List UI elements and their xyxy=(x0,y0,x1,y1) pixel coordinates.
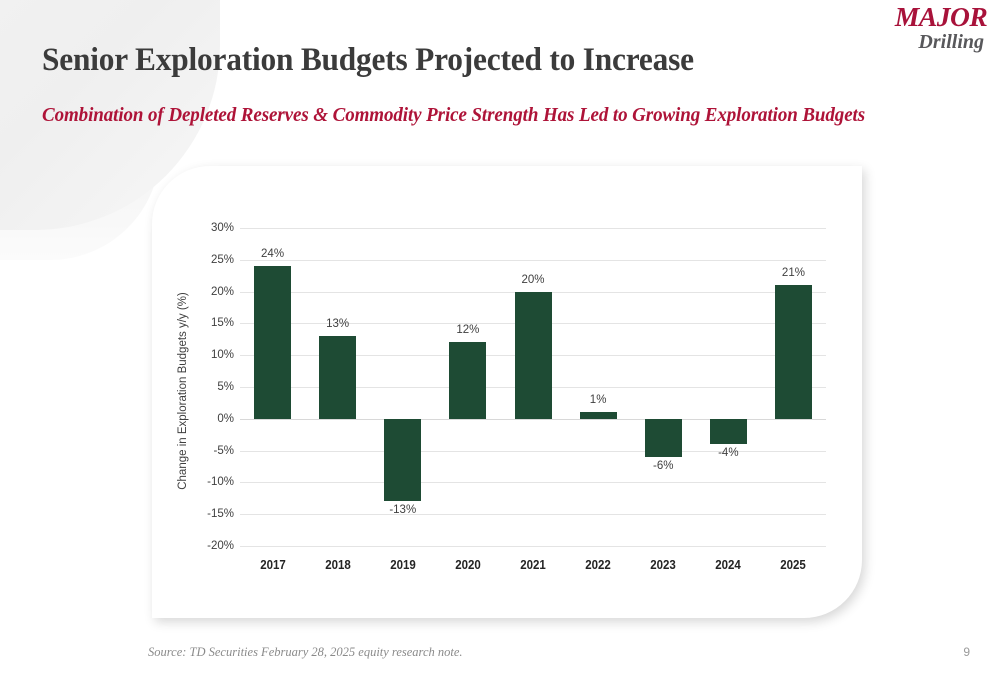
y-axis-tick-label: -5% xyxy=(178,445,234,457)
page-subtitle: Combination of Depleted Reserves & Commo… xyxy=(42,104,865,127)
bar-2018 xyxy=(319,336,356,419)
gridline xyxy=(240,514,826,515)
bar-label-2021: 20% xyxy=(521,274,544,286)
bar-2017 xyxy=(254,266,291,419)
y-axis-tick-label: 15% xyxy=(178,317,234,329)
gridline xyxy=(240,482,826,483)
bar-label-2020: 12% xyxy=(456,324,479,336)
gridline xyxy=(240,228,826,229)
x-axis-tick-2020: 2020 xyxy=(455,558,481,572)
bar-2020 xyxy=(449,342,486,418)
bar-2024 xyxy=(710,419,747,444)
source-note: Source: TD Securities February 28, 2025 … xyxy=(148,645,463,660)
y-axis-tick-label: -20% xyxy=(178,540,234,552)
bar-label-2024: -4% xyxy=(718,447,738,459)
page-number: 9 xyxy=(963,645,970,659)
bar-2021 xyxy=(515,292,552,419)
x-axis-tick-2025: 2025 xyxy=(781,558,807,572)
bar-2025 xyxy=(775,285,812,419)
bar-label-2019: -13% xyxy=(389,504,416,516)
y-axis-tick-label: 5% xyxy=(178,381,234,393)
x-axis-tick-2019: 2019 xyxy=(390,558,416,572)
bar-label-2017: 24% xyxy=(261,248,284,260)
x-axis-tick-2024: 2024 xyxy=(716,558,742,572)
y-axis-tick-label: -10% xyxy=(178,476,234,488)
bar-label-2022: 1% xyxy=(590,394,607,406)
y-axis-tick-label: 25% xyxy=(178,254,234,266)
y-axis-tick-label: 20% xyxy=(178,286,234,298)
bar-2022 xyxy=(580,412,617,418)
gridline xyxy=(240,546,826,547)
x-axis-tick-2018: 2018 xyxy=(325,558,351,572)
x-axis-tick-2023: 2023 xyxy=(650,558,676,572)
y-axis-tick-label: 30% xyxy=(178,222,234,234)
y-axis-tick-label: 0% xyxy=(178,413,234,425)
bar-2019 xyxy=(384,419,421,502)
bar-label-2023: -6% xyxy=(653,460,673,472)
x-axis-tick-2017: 2017 xyxy=(260,558,286,572)
bar-label-2025: 21% xyxy=(782,267,805,279)
bar-2023 xyxy=(645,419,682,457)
major-drilling-logo: MAJOR Drilling xyxy=(866,4,986,52)
y-axis-tick-label: 10% xyxy=(178,349,234,361)
page-title: Senior Exploration Budgets Projected to … xyxy=(42,42,694,79)
bar-chart: Change in Exploration Budgets y/y (%) 30… xyxy=(152,166,862,618)
bar-label-2018: 13% xyxy=(326,318,349,330)
logo-major-text: MAJOR xyxy=(865,4,987,31)
y-axis-tick-label: -15% xyxy=(178,508,234,520)
gridline xyxy=(240,260,826,261)
x-axis-tick-2022: 2022 xyxy=(585,558,611,572)
x-axis-tick-2021: 2021 xyxy=(520,558,546,572)
chart-card: Change in Exploration Budgets y/y (%) 30… xyxy=(152,166,862,618)
logo-drilling-text: Drilling xyxy=(866,32,986,52)
